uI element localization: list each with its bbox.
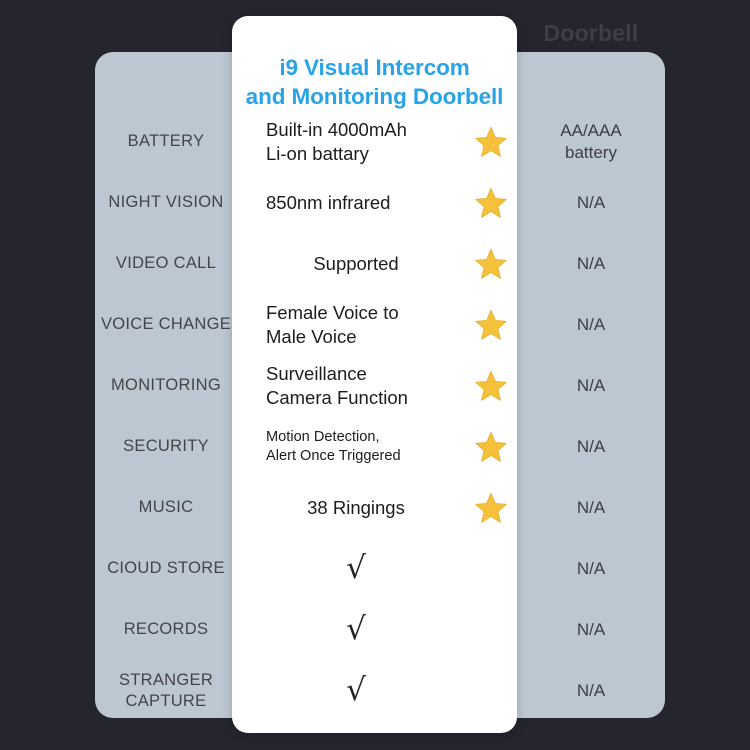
feature-label-text: CIOUD STORE bbox=[95, 558, 237, 578]
product-value-line-2: Male Voice bbox=[266, 325, 465, 348]
product-value: Motion Detection,Alert Once Triggered bbox=[247, 416, 465, 477]
product-value-line-2: Alert Once Triggered bbox=[266, 447, 465, 466]
feature-label: CIOUD STORE bbox=[95, 538, 243, 599]
competitor-value-line-1: N/A bbox=[517, 619, 665, 640]
advantage-star bbox=[466, 416, 516, 477]
feature-label: NIGHT VISION bbox=[95, 172, 243, 233]
competitor-value-line-1: N/A bbox=[517, 253, 665, 274]
advantage-star bbox=[466, 294, 516, 355]
product-value: Built-in 4000mAhLi-on battary bbox=[247, 111, 465, 172]
product-title-line-2: and Monitoring Doorbell bbox=[232, 83, 517, 112]
star-icon bbox=[474, 491, 508, 525]
table-row: SECURITYMotion Detection,Alert Once Trig… bbox=[0, 416, 750, 477]
product-value: 38 Ringings bbox=[247, 477, 465, 538]
feature-label-text: BATTERY bbox=[95, 131, 237, 151]
star-icon bbox=[474, 369, 508, 403]
advantage-star bbox=[466, 477, 516, 538]
feature-label-text: NIGHT VISION bbox=[95, 192, 237, 212]
product-value-line-1: Surveillance bbox=[266, 362, 465, 385]
star-icon bbox=[474, 247, 508, 281]
competitor-value: AA/AAAbattery bbox=[517, 111, 665, 172]
feature-label-line-1: STRANGER bbox=[119, 670, 213, 690]
feature-label: BATTERY bbox=[95, 111, 243, 172]
competitor-value-line-1: N/A bbox=[517, 497, 665, 518]
competitor-value-line-1: N/A bbox=[517, 680, 665, 701]
product-value-line-2: Camera Function bbox=[266, 386, 465, 409]
feature-label: STRANGERCAPTURE bbox=[95, 660, 243, 721]
competitor-value-line-1: N/A bbox=[517, 192, 665, 213]
competitor-value: N/A bbox=[517, 660, 665, 721]
advantage-star bbox=[466, 172, 516, 233]
product-value-line-1: √ bbox=[247, 671, 465, 710]
product-check-icon: √ bbox=[247, 538, 465, 599]
table-row: BATTERYBuilt-in 4000mAhLi-on battaryAA/A… bbox=[0, 111, 750, 172]
star-icon bbox=[474, 186, 508, 220]
star-icon bbox=[474, 125, 508, 159]
product-value-line-2: Li-on battary bbox=[266, 142, 465, 165]
product-value: 850nm infrared bbox=[247, 172, 465, 233]
feature-label: MUSIC bbox=[95, 477, 243, 538]
competitor-value-line-1: N/A bbox=[517, 558, 665, 579]
advantage-star bbox=[466, 111, 516, 172]
competitor-value: N/A bbox=[517, 416, 665, 477]
product-value-line-1: Supported bbox=[247, 252, 465, 275]
feature-label: MONITORING bbox=[95, 355, 243, 416]
product-value-line-1: Motion Detection, bbox=[266, 428, 465, 447]
advantage-star bbox=[466, 599, 516, 660]
feature-label-text: VIDEO CALL bbox=[95, 253, 237, 273]
product-value: Female Voice toMale Voice bbox=[247, 294, 465, 355]
table-row: VOICE CHANGEFemale Voice toMale VoiceN/A bbox=[0, 294, 750, 355]
competitor-value: N/A bbox=[517, 233, 665, 294]
product-title-line-1: i9 Visual Intercom bbox=[232, 54, 517, 83]
competitor-value-line-2: battery bbox=[517, 142, 665, 163]
product-value-line-1: 38 Ringings bbox=[247, 496, 465, 519]
advantage-star bbox=[466, 660, 516, 721]
competitor-value-line-1: AA/AAA bbox=[517, 120, 665, 141]
star-icon bbox=[474, 430, 508, 464]
product-value: SurveillanceCamera Function bbox=[247, 355, 465, 416]
feature-label-text: RECORDS bbox=[95, 619, 237, 639]
feature-label: RECORDS bbox=[95, 599, 243, 660]
feature-label: SECURITY bbox=[95, 416, 243, 477]
product-value-line-1: √ bbox=[247, 610, 465, 649]
product-value-line-1: Female Voice to bbox=[266, 301, 465, 324]
competitor-value: N/A bbox=[517, 355, 665, 416]
star-icon bbox=[474, 308, 508, 342]
product-check-icon: √ bbox=[247, 599, 465, 660]
table-row: STRANGERCAPTURE√N/A bbox=[0, 660, 750, 721]
product-value-line-1: Built-in 4000mAh bbox=[266, 118, 465, 141]
competitor-value: N/A bbox=[517, 477, 665, 538]
competitor-value-line-1: N/A bbox=[517, 375, 665, 396]
table-row: NIGHT VISION850nm infraredN/A bbox=[0, 172, 750, 233]
table-row: MUSIC38 RingingsN/A bbox=[0, 477, 750, 538]
feature-label: VIDEO CALL bbox=[95, 233, 243, 294]
competitor-value-line-1: N/A bbox=[517, 436, 665, 457]
feature-label-text: SECURITY bbox=[95, 436, 237, 456]
table-row: MONITORINGSurveillanceCamera FunctionN/A bbox=[0, 355, 750, 416]
advantage-star bbox=[466, 538, 516, 599]
table-row: VIDEO CALLSupportedN/A bbox=[0, 233, 750, 294]
product-value: Supported bbox=[247, 233, 465, 294]
competitor-value-line-1: N/A bbox=[517, 314, 665, 335]
feature-label-text: VOICE CHANGE bbox=[95, 314, 237, 334]
feature-label-text: MUSIC bbox=[95, 497, 237, 517]
advantage-star bbox=[466, 355, 516, 416]
product-value-line-1: √ bbox=[247, 549, 465, 588]
comparison-rows: BATTERYBuilt-in 4000mAhLi-on battaryAA/A… bbox=[0, 0, 750, 750]
table-row: CIOUD STORE√N/A bbox=[0, 538, 750, 599]
competitor-value: N/A bbox=[517, 172, 665, 233]
competitor-value: N/A bbox=[517, 294, 665, 355]
competitor-value: N/A bbox=[517, 599, 665, 660]
product-check-icon: √ bbox=[247, 660, 465, 721]
table-row: RECORDS√N/A bbox=[0, 599, 750, 660]
product-title: i9 Visual Intercom and Monitoring Doorbe… bbox=[232, 54, 517, 112]
feature-label-line-2: CAPTURE bbox=[119, 691, 213, 711]
advantage-star bbox=[466, 233, 516, 294]
feature-label-text: MONITORING bbox=[95, 375, 237, 395]
competitor-value: N/A bbox=[517, 538, 665, 599]
feature-label: VOICE CHANGE bbox=[95, 294, 243, 355]
competitor-column-header: Doorbell bbox=[517, 0, 665, 66]
product-value-line-1: 850nm infrared bbox=[266, 191, 465, 214]
